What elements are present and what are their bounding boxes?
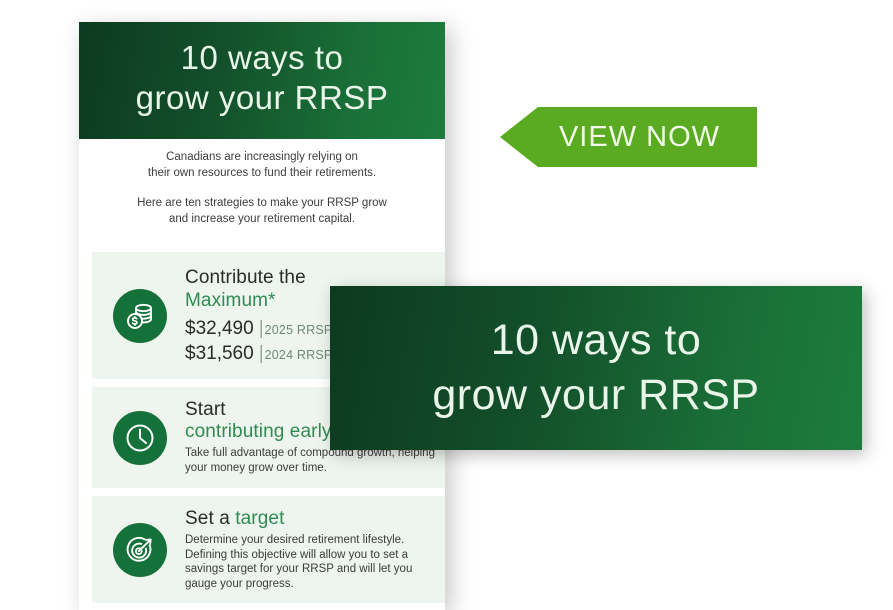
view-now-label: VIEW NOW (537, 123, 720, 152)
list-item-title: Set a target (185, 508, 435, 530)
list-item-body: Set a target Determine your desired reti… (185, 508, 435, 591)
item3-title-line1: Set a (185, 508, 230, 529)
item3-title-line2: target (235, 508, 284, 529)
card-header-title: 10 ways to grow your RRSP (79, 38, 445, 118)
item3-desc-line1: Determine your desired retirement lifest… (185, 534, 404, 546)
item2-desc-line2: your money grow over time. (185, 462, 327, 474)
intro-p2-line1: Here are ten strategies to make your RRS… (137, 197, 387, 209)
amount-value-2025: $32,490 (185, 318, 254, 339)
card-header: 10 ways to grow your RRSP (79, 22, 445, 139)
intro-p2-line2: and increase your retirement capital. (169, 213, 355, 225)
overlay-title: 10 ways to grow your RRSP (432, 313, 759, 423)
item3-desc-line2: Defining this objective will allow you t… (185, 549, 408, 561)
amount-value-2024: $31,560 (185, 343, 254, 364)
item3-desc-line3: savings target for your RRSP and will le… (185, 563, 412, 575)
card-title-line1: 10 ways to (181, 39, 344, 76)
card-intro-text: Canadians are increasingly relying on th… (79, 150, 445, 227)
list-item[interactable]: Set a target Determine your desired reti… (92, 496, 445, 603)
amount-year-2025: 2025 RRSP (265, 323, 333, 337)
intro-paragraph-1: Canadians are increasingly relying on th… (79, 150, 445, 181)
intro-paragraph-2: Here are ten strategies to make your RRS… (79, 196, 445, 227)
intro-p1-line1: Canadians are increasingly relying on (166, 151, 358, 163)
overlay-title-line2: grow your RRSP (432, 368, 759, 423)
view-now-button[interactable]: VIEW NOW (500, 107, 757, 167)
list-item-description: Take full advantage of compound growth, … (185, 446, 435, 475)
overlay-title-panel: 10 ways to grow your RRSP (330, 286, 862, 450)
screenshot-stage: 10 ways to grow your RRSP Canadians are … (0, 0, 893, 610)
intro-p1-line2: their own resources to fund their retire… (148, 167, 376, 179)
item3-desc-line4: gauge your progress. (185, 578, 294, 590)
target-arrow-icon (113, 523, 167, 577)
list-item-description: Determine your desired retirement lifest… (185, 533, 435, 591)
amount-year-2024: 2024 RRSP (265, 348, 333, 362)
coins-stack-dollar-icon (113, 289, 167, 343)
amount-separator: | (254, 343, 265, 364)
item1-title-line1: Contribute the (185, 267, 306, 288)
overlay-title-line1: 10 ways to (491, 316, 702, 364)
item2-title-line1: Start (185, 399, 226, 420)
amount-separator: | (254, 318, 265, 339)
card-title-line2: grow your RRSP (79, 78, 445, 118)
clock-icon (113, 411, 167, 465)
